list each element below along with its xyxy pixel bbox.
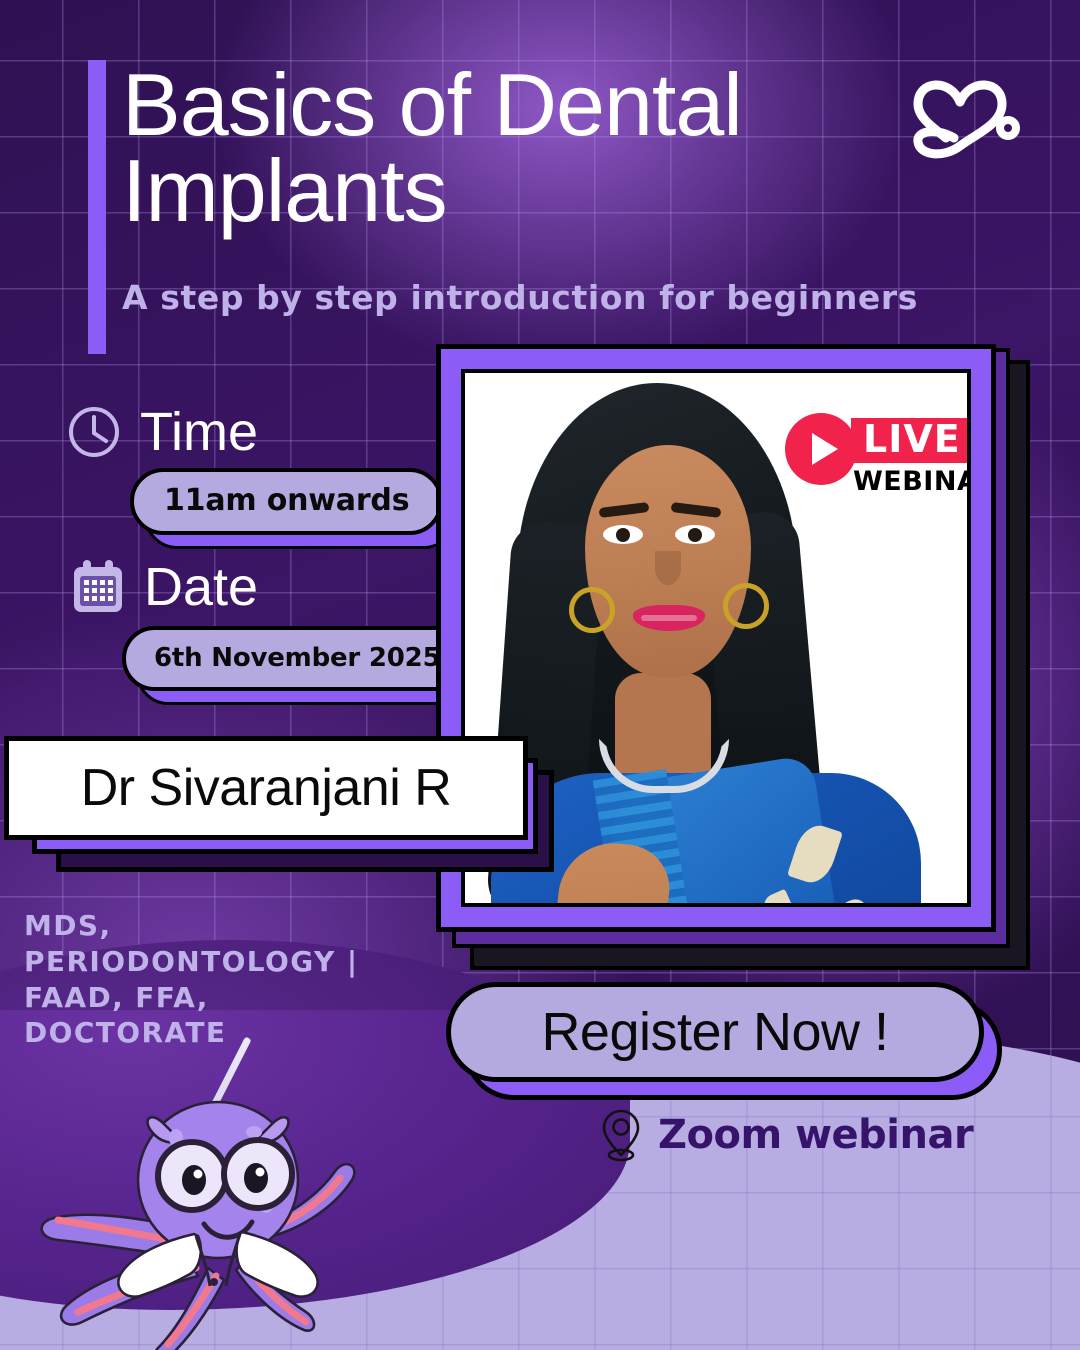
heart-stethoscope-icon	[898, 72, 1024, 164]
title-line-1: Basics of Dental	[122, 62, 912, 148]
webinar-label: WEBINAR	[851, 466, 971, 497]
time-pill: 11am onwards	[130, 468, 443, 535]
octopus-mascot-icon	[18, 1068, 418, 1350]
location-pin-icon	[600, 1108, 642, 1162]
register-button-label: Register Now !	[541, 1001, 888, 1063]
clock-icon	[66, 404, 122, 460]
calendar-icon	[70, 558, 126, 616]
speaker-credentials: MDS, PERIODONTOLOGY | FAAD, FFA, DOCTORA…	[24, 908, 424, 1051]
page-subtitle: A step by step introduction for beginner…	[122, 278, 918, 317]
speaker-name: Dr Sivaranjani R	[81, 758, 452, 818]
play-icon	[785, 413, 857, 485]
platform-row: Zoom webinar	[600, 1108, 973, 1162]
date-pill: 6th November 2025	[122, 626, 472, 691]
date-label: Date	[144, 560, 258, 614]
webinar-poster: Basics of Dental Implants A step by step…	[0, 0, 1080, 1350]
time-label: Time	[140, 405, 258, 459]
date-value: 6th November 2025	[122, 626, 472, 691]
speaker-name-plate: Dr Sivaranjani R	[4, 736, 528, 840]
time-row: Time	[66, 404, 258, 460]
platform-label: Zoom webinar	[658, 1112, 973, 1158]
live-webinar-badge: LIVE WEBINAR	[785, 413, 971, 497]
title-line-2: Implants	[122, 148, 912, 234]
register-button-wrap[interactable]: Register Now !	[446, 982, 984, 1082]
date-row: Date	[70, 558, 258, 616]
live-label: LIVE	[851, 418, 971, 463]
register-button[interactable]: Register Now !	[446, 982, 984, 1082]
time-value: 11am onwards	[130, 468, 443, 535]
page-title: Basics of Dental Implants	[122, 62, 912, 234]
title-accent-bar	[88, 60, 106, 354]
